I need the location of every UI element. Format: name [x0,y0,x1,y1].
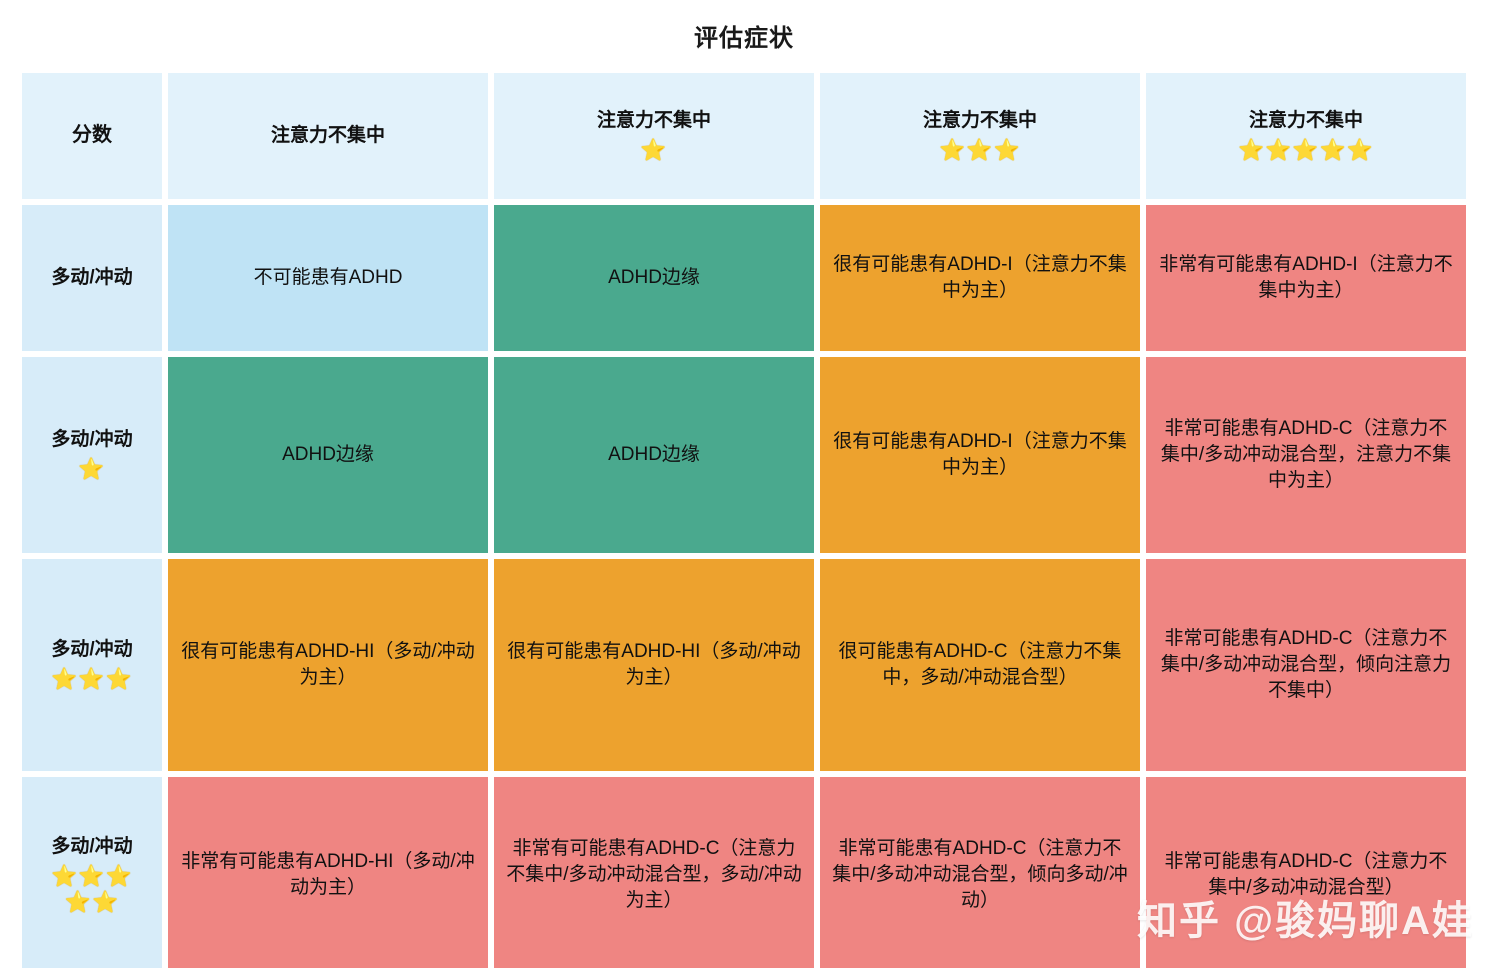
star-icon: ⭐ [994,138,1021,164]
header-score-label: 分数 [32,122,152,150]
table-row: 多动/冲动⭐⭐⭐⭐⭐非常有可能患有ADHD-HI（多动/冲动为主）非常有可能患有… [22,777,1466,968]
matrix-cell-r0-c0: 不可能患有ADHD [168,205,488,351]
star-icon: ⭐ [1238,138,1265,164]
matrix-cell-r2-c3: 非常可能患有ADHD-C（注意力不集中/多动冲动混合型，倾向注意力不集中） [1146,559,1466,771]
matrix-cell-text: 很有可能患有ADHD-HI（多动/冲动为主） [504,639,804,691]
row-header-label: 多动/冲动 [32,265,152,291]
header-column-label: 注意力不集中 [830,108,1130,134]
row-header-hyperactivity-0: 多动/冲动 [22,205,162,351]
table-header-row: 分数注意力不集中注意力不集中⭐注意力不集中⭐⭐⭐注意力不集中⭐⭐⭐⭐⭐ [22,73,1466,199]
matrix-cell-r3-c1: 非常有可能患有ADHD-C（注意力不集中/多动冲动混合型，多动/冲动为主） [494,777,814,968]
header-cell-score: 分数 [22,73,162,199]
star-rating-icon: ⭐ [504,138,804,164]
star-rating-icon: ⭐⭐⭐ [32,667,152,693]
star-icon: ⭐ [65,890,92,916]
header-column-label: 注意力不集中 [178,123,478,149]
matrix-cell-r2-c2: 很可能患有ADHD-C（注意力不集中，多动/冲动混合型） [820,559,1140,771]
matrix-cell-r1-c2: 很有可能患有ADHD-I（注意力不集中为主） [820,357,1140,553]
matrix-cell-r1-c0: ADHD边缘 [168,357,488,553]
star-icon: ⭐ [78,667,105,693]
star-rating-icon: ⭐⭐⭐⭐⭐ [1156,138,1456,164]
star-icon: ⭐ [640,138,667,164]
matrix-cell-text: 非常可能患有ADHD-C（注意力不集中/多动冲动混合型，注意力不集中为主） [1156,416,1456,495]
matrix-cell-r2-c0: 很有可能患有ADHD-HI（多动/冲动为主） [168,559,488,771]
table-row: 多动/冲动⭐⭐⭐很有可能患有ADHD-HI（多动/冲动为主）很有可能患有ADHD… [22,559,1466,771]
header-column-label: 注意力不集中 [504,108,804,134]
star-rating-icon: ⭐⭐⭐⭐⭐ [32,864,152,917]
row-header-hyperactivity-1: 多动/冲动⭐ [22,357,162,553]
matrix-cell-text: 非常可能患有ADHD-C（注意力不集中/多动冲动混合型，倾向多动/冲动） [830,836,1130,915]
matrix-cell-r3-c2: 非常可能患有ADHD-C（注意力不集中/多动冲动混合型，倾向多动/冲动） [820,777,1140,968]
star-icon: ⭐ [78,864,105,890]
matrix-cell-text: 非常有可能患有ADHD-C（注意力不集中/多动冲动混合型，多动/冲动为主） [504,836,804,915]
matrix-cell-r2-c1: 很有可能患有ADHD-HI（多动/冲动为主） [494,559,814,771]
matrix-cell-text: 很有可能患有ADHD-HI（多动/冲动为主） [178,639,478,691]
star-icon: ⭐ [1347,138,1374,164]
matrix-cell-r3-c3: 非常可能患有ADHD-C（注意力不集中/多动冲动混合型） [1146,777,1466,968]
matrix-cell-text: 很可能患有ADHD-C（注意力不集中，多动/冲动混合型） [830,639,1130,691]
matrix-cell-r1-c1: ADHD边缘 [494,357,814,553]
adhd-assessment-matrix: 分数注意力不集中注意力不集中⭐注意力不集中⭐⭐⭐注意力不集中⭐⭐⭐⭐⭐多动/冲动… [16,67,1472,968]
matrix-cell-text: ADHD边缘 [504,265,804,291]
matrix-cell-text: 非常有可能患有ADHD-I（注意力不集中为主） [1156,252,1456,304]
header-cell-inattention-0: 注意力不集中 [168,73,488,199]
header-cell-inattention-2: 注意力不集中⭐⭐⭐ [820,73,1140,199]
table-row: 多动/冲动⭐ADHD边缘ADHD边缘很有可能患有ADHD-I（注意力不集中为主）… [22,357,1466,553]
star-rating-icon: ⭐⭐⭐ [830,138,1130,164]
matrix-cell-r0-c1: ADHD边缘 [494,205,814,351]
star-icon: ⭐ [939,138,966,164]
matrix-cell-r3-c0: 非常有可能患有ADHD-HI（多动/冲动为主） [168,777,488,968]
star-icon: ⭐ [51,667,78,693]
matrix-cell-text: ADHD边缘 [504,442,804,468]
star-rating-icon: ⭐ [32,457,152,483]
page-root: 评估症状 分数注意力不集中注意力不集中⭐注意力不集中⭐⭐⭐注意力不集中⭐⭐⭐⭐⭐… [0,0,1488,968]
star-icon: ⭐ [1320,138,1347,164]
header-column-label: 注意力不集中 [1156,108,1456,134]
star-icon: ⭐ [51,864,78,890]
matrix-cell-text: 不可能患有ADHD [178,265,478,291]
page-title: 评估症状 [0,0,1488,67]
star-icon: ⭐ [106,864,133,890]
matrix-cell-text: 非常有可能患有ADHD-HI（多动/冲动为主） [178,849,478,901]
star-icon: ⭐ [106,667,133,693]
row-header-hyperactivity-2: 多动/冲动⭐⭐⭐ [22,559,162,771]
matrix-cell-text: 非常可能患有ADHD-C（注意力不集中/多动冲动混合型） [1156,849,1456,901]
matrix-cell-text: ADHD边缘 [178,442,478,468]
row-header-label: 多动/冲动 [32,637,152,663]
star-icon: ⭐ [1265,138,1292,164]
star-icon: ⭐ [1292,138,1319,164]
header-cell-inattention-3: 注意力不集中⭐⭐⭐⭐⭐ [1146,73,1466,199]
row-header-label: 多动/冲动 [32,834,152,860]
matrix-cell-text: 很有可能患有ADHD-I（注意力不集中为主） [830,429,1130,481]
star-icon: ⭐ [78,457,105,483]
header-cell-inattention-1: 注意力不集中⭐ [494,73,814,199]
matrix-cell-text: 非常可能患有ADHD-C（注意力不集中/多动冲动混合型，倾向注意力不集中） [1156,626,1456,705]
matrix-cell-r0-c2: 很有可能患有ADHD-I（注意力不集中为主） [820,205,1140,351]
matrix-cell-r0-c3: 非常有可能患有ADHD-I（注意力不集中为主） [1146,205,1466,351]
matrix-cell-r1-c3: 非常可能患有ADHD-C（注意力不集中/多动冲动混合型，注意力不集中为主） [1146,357,1466,553]
matrix-cell-text: 很有可能患有ADHD-I（注意力不集中为主） [830,252,1130,304]
table-row: 多动/冲动不可能患有ADHDADHD边缘很有可能患有ADHD-I（注意力不集中为… [22,205,1466,351]
row-header-label: 多动/冲动 [32,427,152,453]
star-icon: ⭐ [92,890,119,916]
row-header-hyperactivity-3: 多动/冲动⭐⭐⭐⭐⭐ [22,777,162,968]
star-icon: ⭐ [966,138,993,164]
